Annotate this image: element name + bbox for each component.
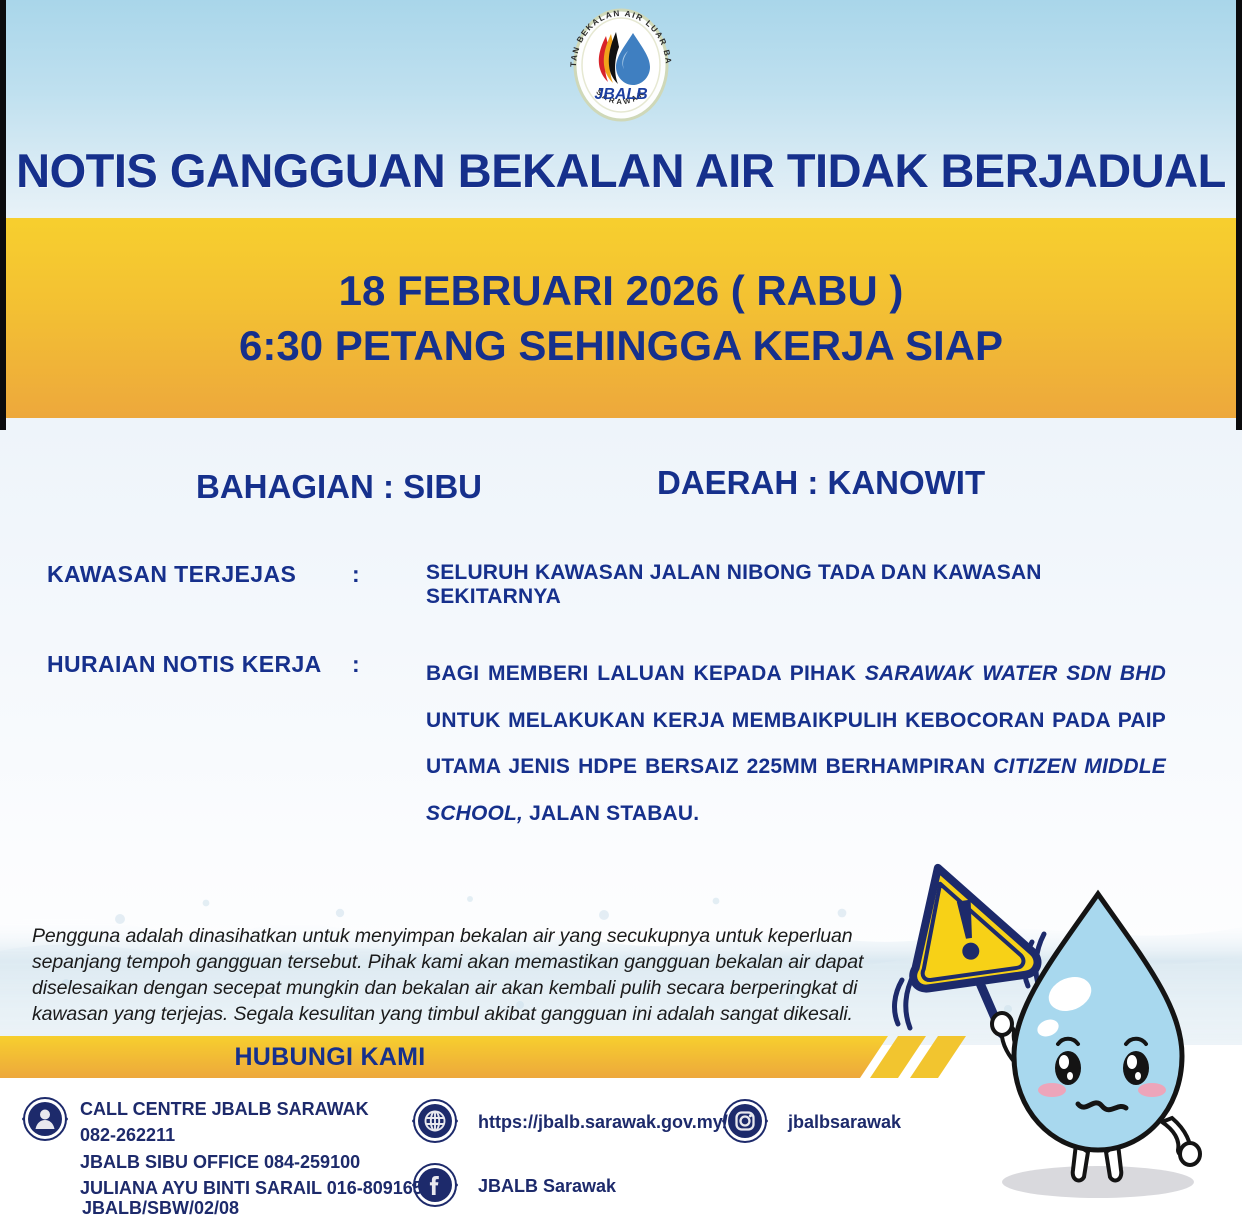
kawasan-colon: : — [352, 561, 360, 588]
region-row: BAHAGIAN : SIBU DAERAH : KANOWIT — [0, 468, 1242, 514]
call-centre-line-2: 082-262211 — [80, 1122, 433, 1148]
logo-wordmark: JBALB — [594, 86, 647, 103]
advisory-paragraph: Pengguna adalah dinasihatkan untuk menyi… — [32, 924, 878, 1028]
contact-banner: HUBUNGI KAMI — [0, 1036, 1000, 1078]
huraian-label: HURAIAN NOTIS KERJA — [47, 651, 322, 678]
huraian-part-3: JALAN STABAU. — [523, 802, 699, 825]
huraian-colon: : — [352, 651, 360, 678]
poster-header: JABATAN BEKALAN AIR LUAR BANDAR SARAWAK … — [0, 0, 1242, 218]
reference-number: JBALB/SBW/02/08 — [82, 1198, 239, 1219]
kawasan-value: SELURUH KAWASAN JALAN NIBONG TADA DAN KA… — [426, 561, 1166, 609]
person-icon — [22, 1096, 68, 1142]
huraian-value: BAGI MEMBERI LALUAN KEPADA PIHAK SARAWAK… — [426, 651, 1166, 837]
daerah-label: DAERAH : KANOWIT — [657, 464, 985, 502]
warning-triangle-sign — [899, 856, 1039, 990]
call-centre-text: CALL CENTRE JBALB SARAWAK 082-262211 JBA… — [80, 1096, 433, 1201]
contact-instagram[interactable]: jbalbsarawak — [722, 1098, 901, 1144]
website-text[interactable]: https://jbalb.sarawak.gov.my/ — [478, 1098, 728, 1135]
instagram-text[interactable]: jbalbsarawak — [788, 1098, 901, 1135]
right-edge-rule — [1236, 0, 1242, 430]
instagram-icon — [722, 1098, 768, 1144]
poster-footer: CALL CENTRE JBALB SARAWAK 082-262211 JBA… — [0, 1078, 1242, 1225]
facebook-text[interactable]: JBALB Sarawak — [478, 1162, 616, 1199]
contact-website[interactable]: https://jbalb.sarawak.gov.my/ — [412, 1098, 728, 1144]
huraian-part-1: BAGI MEMBERI LALUAN KEPADA PIHAK — [426, 662, 865, 685]
kawasan-label: KAWASAN TERJEJAS — [47, 561, 296, 588]
notice-poster: JABATAN BEKALAN AIR LUAR BANDAR SARAWAK … — [0, 0, 1242, 1225]
call-centre-line-3: JBALB SIBU OFFICE 084-259100 — [80, 1149, 433, 1175]
bahagian-label: BAHAGIAN : SIBU — [196, 468, 482, 506]
page-title: NOTIS GANGGUAN BEKALAN AIR TIDAK BERJADU… — [0, 143, 1242, 198]
contact-facebook[interactable]: JBALB Sarawak — [412, 1162, 616, 1208]
contact-call-centre: CALL CENTRE JBALB SARAWAK 082-262211 JBA… — [22, 1096, 433, 1201]
date-banner: 18 FEBRUARI 2026 ( RABU ) 6:30 PETANG SE… — [0, 218, 1242, 418]
date-line-1: 18 FEBRUARI 2026 ( RABU ) — [339, 263, 904, 318]
date-line-2: 6:30 PETANG SEHINGGA KERJA SIAP — [239, 318, 1003, 373]
contact-banner-title: HUBUNGI KAMI — [0, 1036, 660, 1078]
huraian-italic-1: SARAWAK WATER SDN BHD — [865, 662, 1166, 685]
call-centre-line-1: CALL CENTRE JBALB SARAWAK — [80, 1096, 433, 1122]
left-edge-rule — [0, 0, 6, 430]
facebook-icon — [412, 1162, 458, 1208]
globe-icon — [412, 1098, 458, 1144]
jbalb-logo: JABATAN BEKALAN AIR LUAR BANDAR SARAWAK … — [560, 6, 682, 124]
